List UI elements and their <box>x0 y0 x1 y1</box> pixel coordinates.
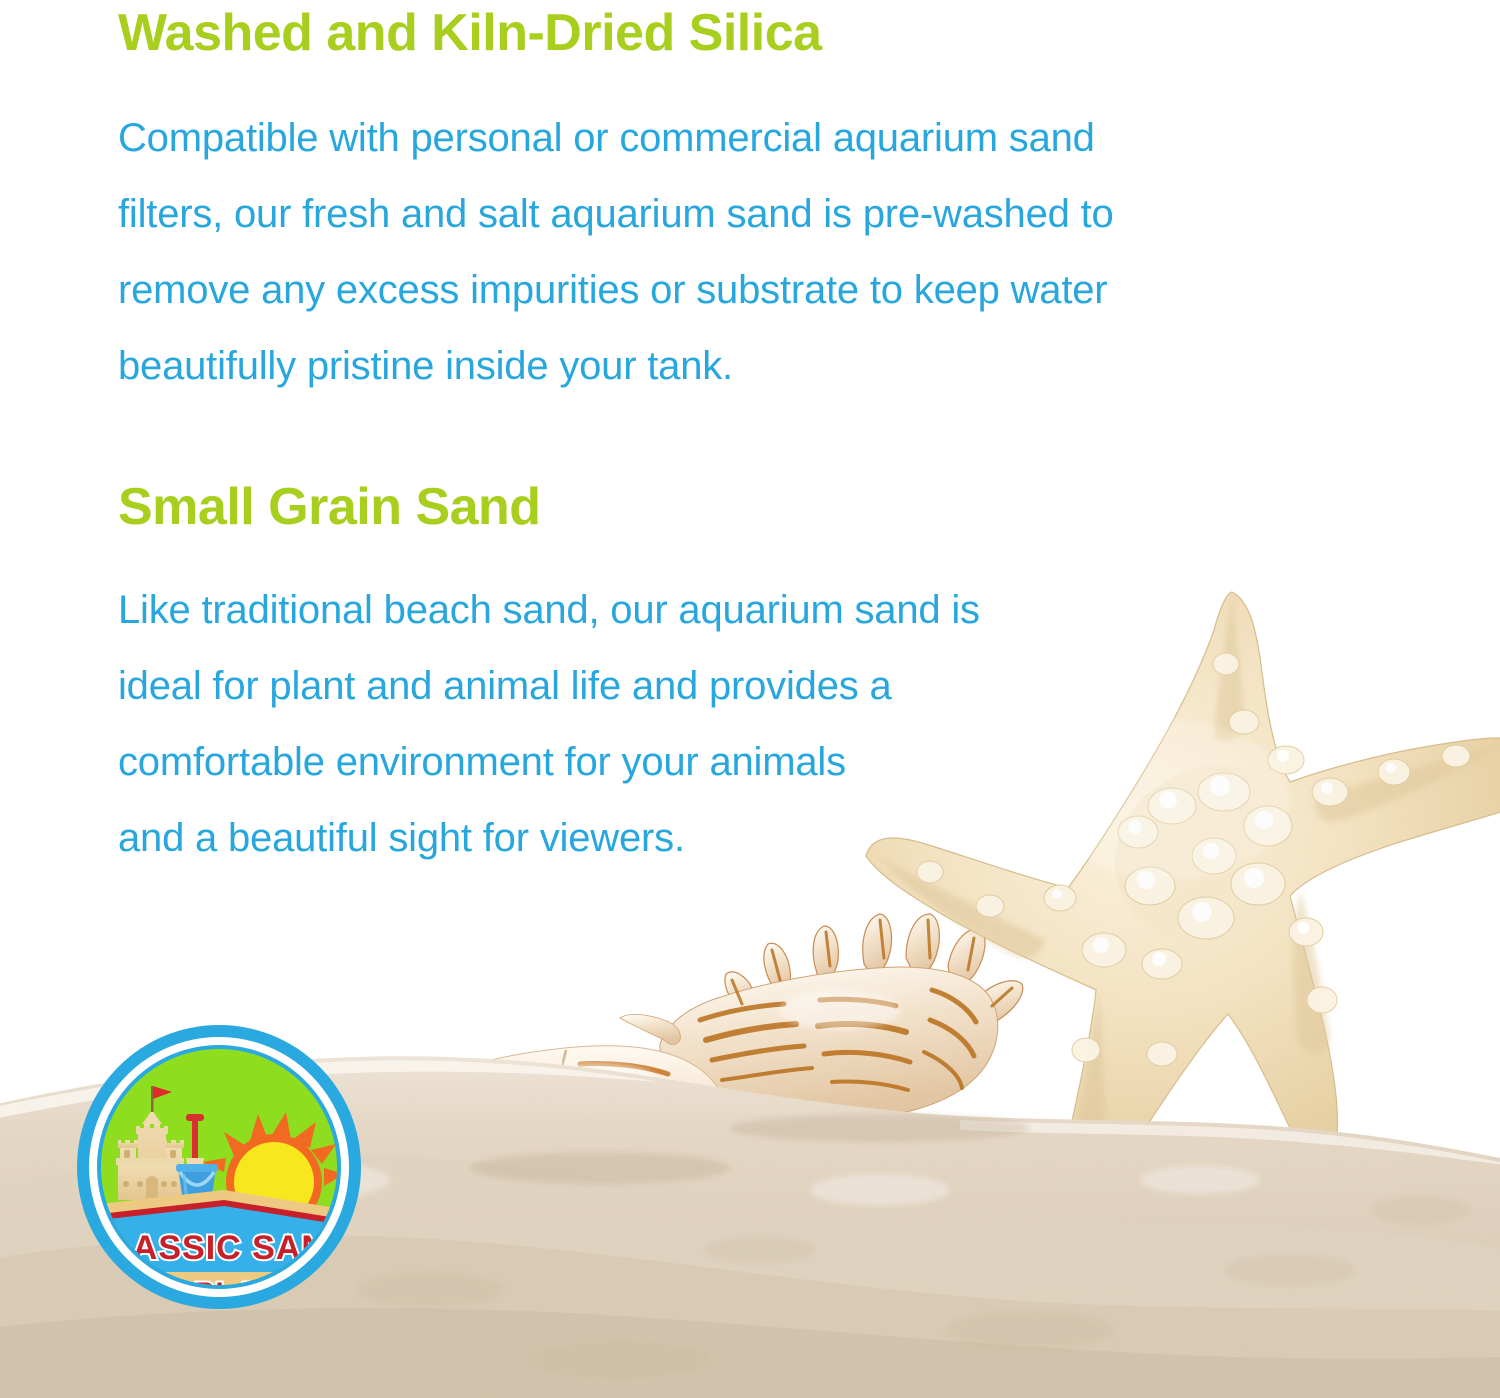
body-line: remove any excess impurities or substrat… <box>118 252 1378 328</box>
body-line: beautifully pristine inside your tank. <box>118 328 1378 404</box>
section-washed-kiln-dried-silica: Washed and Kiln-Dried Silica Compatible … <box>118 4 1378 404</box>
section-small-grain-sand: Small Grain Sand Like traditional beach … <box>118 478 1238 876</box>
body-line: Like traditional beach sand, our aquariu… <box>118 572 1238 648</box>
auger-shell <box>426 1046 727 1171</box>
brand-logo: CLASSIC SAND & PLAY <box>74 1022 364 1312</box>
shell-contact-shadows <box>470 1114 1030 1184</box>
body-line: and a beautiful sight for viewers. <box>118 800 1238 876</box>
body-line: Compatible with personal or commercial a… <box>118 100 1378 176</box>
body-line: comfortable environment for your animals <box>118 724 1238 800</box>
body-line: ideal for plant and animal life and prov… <box>118 648 1238 724</box>
brand-logo-svg: CLASSIC SAND & PLAY <box>74 1022 364 1312</box>
body-small-grain-sand: Like traditional beach sand, our aquariu… <box>118 572 1238 876</box>
heading-washed-kiln-dried-silica: Washed and Kiln-Dried Silica <box>118 4 1378 62</box>
product-feature-panel: Washed and Kiln-Dried Silica Compatible … <box>0 0 1500 1398</box>
body-washed-kiln-dried-silica: Compatible with personal or commercial a… <box>118 100 1378 404</box>
heading-small-grain-sand: Small Grain Sand <box>118 478 1238 536</box>
body-line: filters, our fresh and salt aquarium san… <box>118 176 1378 252</box>
murex-shell <box>620 914 1023 1122</box>
